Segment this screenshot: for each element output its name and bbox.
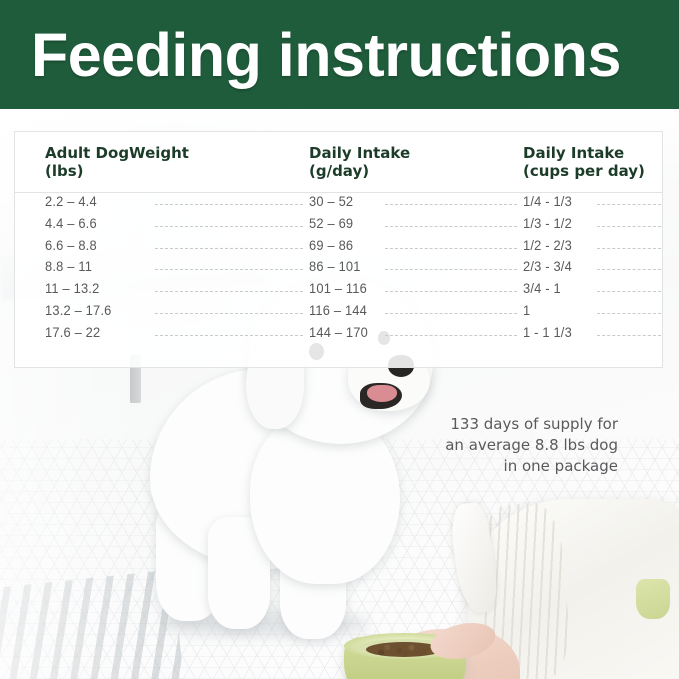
column-header-grams: Daily Intake (g/day) [309,144,410,180]
table-row: 17.6 – 22 144 – 170 1 - 1 1/3 [15,324,662,346]
leader-dots [597,313,661,314]
dog-tongue [367,385,397,402]
leader-dots [385,313,517,314]
cell-cups: 2/3 - 3/4 [523,258,572,274]
leader-dots [385,291,517,292]
cell-cups: 1 - 1 1/3 [523,324,572,340]
column-header-weight: Adult DogWeight (lbs) [45,144,189,180]
page-title: Feeding instructions [31,14,621,96]
table-row: 6.6 – 8.8 69 – 86 1/2 - 2/3 [15,237,662,259]
leader-dots [385,335,517,336]
table-header-row: Adult DogWeight (lbs) Daily Intake (g/da… [15,132,662,193]
leader-dots [385,204,517,205]
cell-grams: 144 – 170 [309,324,368,340]
cell-cups: 1 [523,302,530,318]
second-bowl-edge [636,579,670,619]
cell-weight: 2.2 – 4.4 [45,193,97,209]
cell-grams: 101 – 116 [309,280,367,296]
cell-grams: 86 – 101 [309,258,361,274]
cell-cups: 3/4 - 1 [523,280,561,296]
leader-dots [155,204,303,205]
cell-grams: 69 – 86 [309,237,353,253]
cell-cups: 1/3 - 1/2 [523,215,572,231]
leader-dots [597,335,661,336]
leader-dots [155,248,303,249]
leader-dots [155,291,303,292]
table-row: 4.4 – 6.6 52 – 69 1/3 - 1/2 [15,215,662,237]
leader-dots [385,269,517,270]
leader-dots [155,335,303,336]
cell-cups: 1/4 - 1/3 [523,193,572,209]
table-row: 13.2 – 17.6 116 – 144 1 [15,302,662,324]
cell-grams: 52 – 69 [309,215,353,231]
cell-grams: 30 – 52 [309,193,353,209]
leader-dots [597,248,661,249]
supply-note: 133 days of supply for an average 8.8 lb… [388,414,618,477]
table-row: 11 – 13.2 101 – 116 3/4 - 1 [15,280,662,302]
leader-dots [597,269,661,270]
page-header-banner: Feeding instructions [0,0,679,109]
cell-weight: 17.6 – 22 [45,324,100,340]
table-row: 8.8 – 11 86 – 101 2/3 - 3/4 [15,258,662,280]
cell-weight: 4.4 – 6.6 [45,215,97,231]
leader-dots [597,226,661,227]
cell-cups: 1/2 - 2/3 [523,237,572,253]
leader-dots [385,226,517,227]
leader-dots [155,226,303,227]
leader-dots [597,204,661,205]
table-body: 2.2 – 4.4 30 – 52 1/4 - 1/3 4.4 – 6.6 52… [15,193,662,346]
column-header-cups: Daily Intake (cups per day) [523,144,645,180]
leader-dots [155,269,303,270]
cell-grams: 116 – 144 [309,302,367,318]
leader-dots [385,248,517,249]
feeding-chart-table: Adult DogWeight (lbs) Daily Intake (g/da… [14,131,663,368]
cell-weight: 11 – 13.2 [45,280,99,296]
table-row: 2.2 – 4.4 30 – 52 1/4 - 1/3 [15,193,662,215]
cell-weight: 13.2 – 17.6 [45,302,111,318]
leader-dots [155,313,303,314]
cell-weight: 6.6 – 8.8 [45,237,97,253]
leader-dots [597,291,661,292]
cell-weight: 8.8 – 11 [45,258,92,274]
